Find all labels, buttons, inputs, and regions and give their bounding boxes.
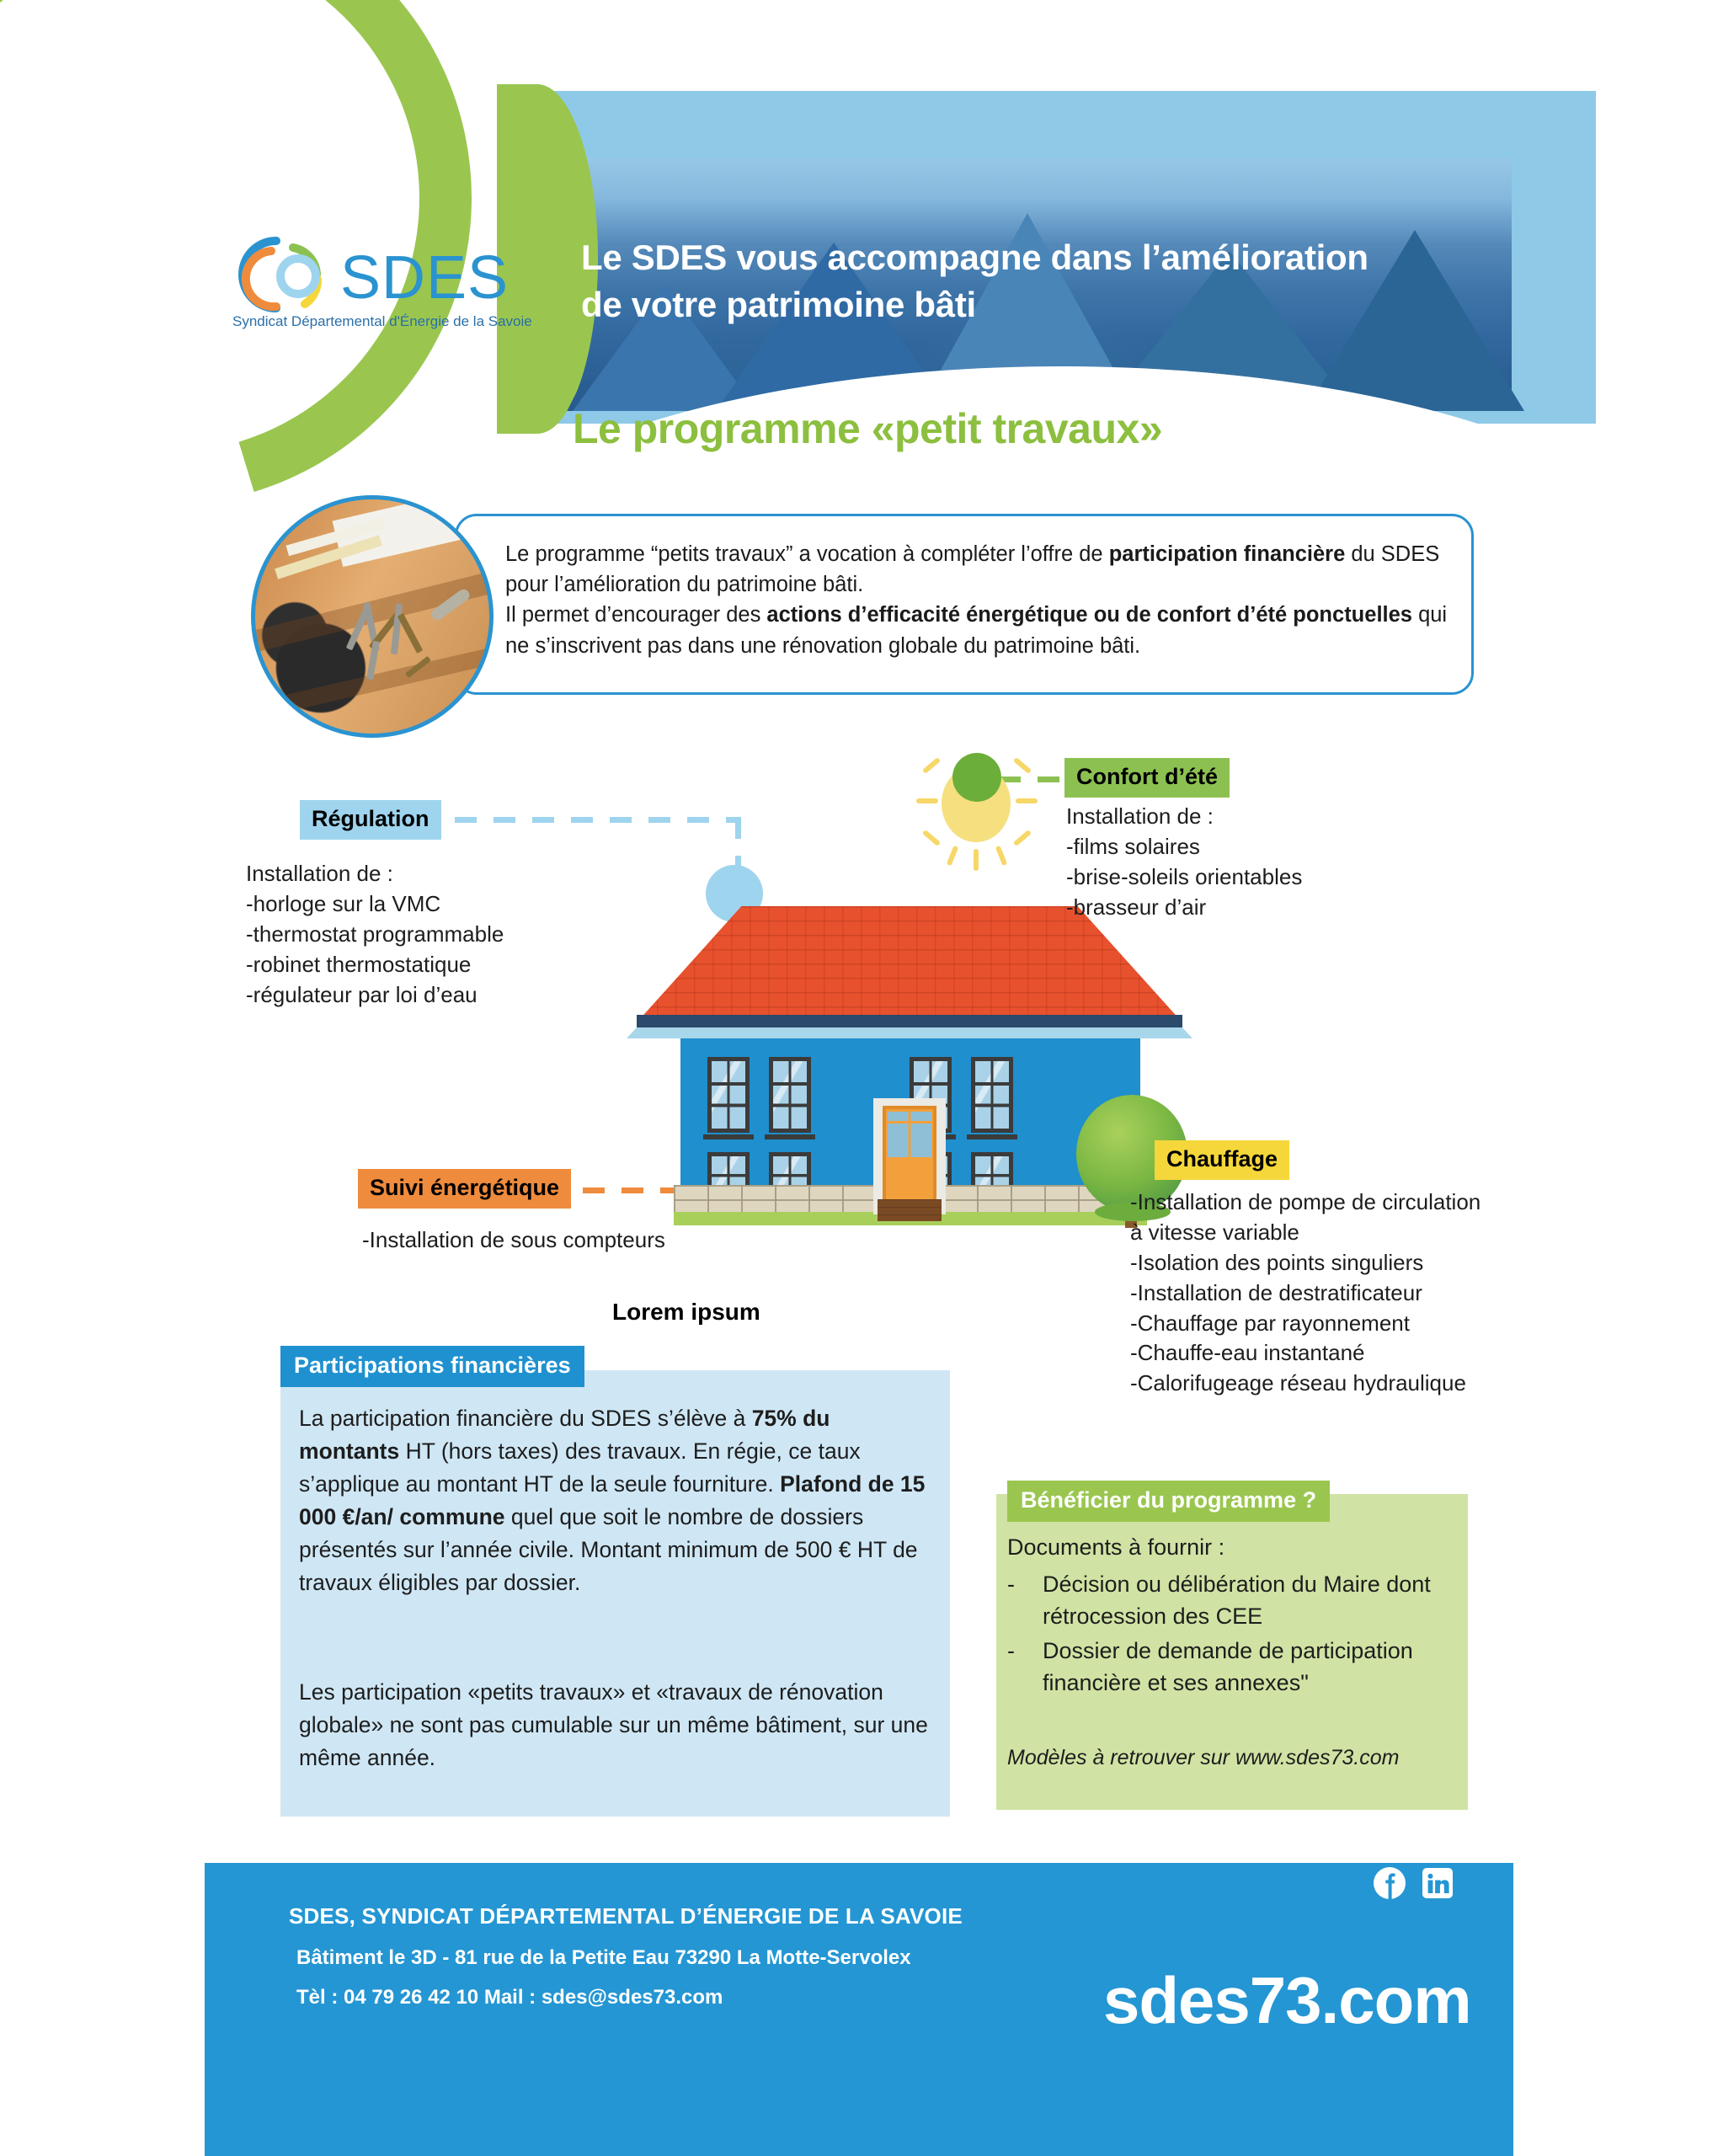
intro-paragraph-1: Le programme “petits travaux” a vocation…	[505, 539, 1465, 600]
text-confort-ete: Installation de : -films solaires -brise…	[1066, 802, 1538, 923]
participations-note: Les participation «petits travaux» et «t…	[299, 1676, 935, 1774]
label-chauffage: Chauffage	[1155, 1140, 1289, 1180]
benefit-footnote: Modèles à retrouver sur www.sdes73.com	[1007, 1746, 1399, 1770]
connector-confort	[999, 776, 1063, 782]
participations-text: La participation financière du SDES s’él…	[299, 1402, 931, 1599]
tools-photo-circle	[251, 495, 494, 738]
bullet-dash-icon: -	[1007, 1568, 1043, 1633]
footer-title: SDES, SYNDICAT DÉPARTEMENTAL D’ÉNERGIE D…	[289, 1903, 963, 1929]
text-chauffage: -Installation de pompe de circulation à …	[1130, 1187, 1652, 1399]
footer-website[interactable]: sdes73.com	[1103, 1962, 1471, 2039]
intro-text: Le programme “petits travaux” a vocation…	[505, 539, 1465, 661]
label-confort-ete: Confort d’été	[1064, 758, 1230, 798]
pf-line1-c: HT (hors taxes) des travaux.	[399, 1438, 686, 1464]
intro-p2-bold: actions d’efficacité énergétique ou de c…	[766, 603, 1412, 627]
banner-title-line1: Le SDES vous accompagne dans l’améliorat…	[581, 234, 1423, 281]
text-regulation: Installation de : -horloge sur la VMC -t…	[246, 859, 718, 1010]
benefit-intro: Documents à fournir :	[1007, 1534, 1224, 1561]
benefit-item-0: Décision ou délibération du Maire dont r…	[1043, 1568, 1462, 1633]
list-item: - Dossier de demande de participation fi…	[1007, 1635, 1462, 1700]
footer-address: Bâtiment le 3D - 81 rue de la Petite Eau…	[296, 1946, 911, 1970]
label-regulation: Régulation	[300, 800, 441, 840]
bullet-dash-icon: -	[1007, 1635, 1043, 1700]
intro-p1-part1: Le programme “petits travaux” a vocation…	[505, 542, 1109, 566]
house-illustration	[657, 884, 1162, 1230]
label-suivi-energetique: Suivi énergétique	[358, 1169, 571, 1209]
sdes-logo: SDES Syndicat Départemental d'Énergie de…	[232, 226, 510, 344]
list-item: - Décision ou délibération du Maire dont…	[1007, 1568, 1462, 1633]
svg-text:SDES: SDES	[340, 244, 509, 312]
facebook-icon[interactable]	[1373, 1866, 1406, 1900]
intro-p2-part1: Il permet d’encourager des	[505, 603, 766, 627]
benefit-list: - Décision ou délibération du Maire dont…	[1007, 1568, 1462, 1700]
banner-title-line2: de votre patrimoine bâti	[581, 281, 1423, 328]
banner-title: Le SDES vous accompagne dans l’améliorat…	[581, 234, 1423, 328]
intro-p1-bold: participation financière	[1109, 542, 1346, 566]
pf-line1-a: La participation financière du SDES s’él…	[299, 1406, 752, 1431]
benefit-item-1: Dossier de demande de participation fina…	[1043, 1635, 1462, 1700]
participations-heading: Participations financières	[280, 1346, 584, 1387]
sdes-logo-tagline: Syndicat Départemental d'Énergie de la S…	[232, 313, 510, 330]
lorem-ipsum-heading: Lorem ipsum	[612, 1299, 760, 1326]
benefit-heading: Bénéficier du programme ?	[1007, 1481, 1330, 1522]
footer-social-links	[1373, 1866, 1454, 1900]
poster-page: Le SDES vous accompagne dans l’améliorat…	[0, 0, 1718, 2156]
program-title: Le programme «petit travaux»	[573, 404, 1499, 453]
intro-paragraph-2: Il permet d’encourager des actions d’eff…	[505, 600, 1465, 660]
text-suivi-energetique: -Installation de sous compteurs	[362, 1225, 800, 1256]
footer-contact: Tèl : 04 79 26 42 10 Mail : sdes@sdes73.…	[296, 1986, 723, 2009]
connector-regulation-horizontal	[455, 817, 741, 823]
linkedin-icon[interactable]	[1421, 1866, 1454, 1900]
